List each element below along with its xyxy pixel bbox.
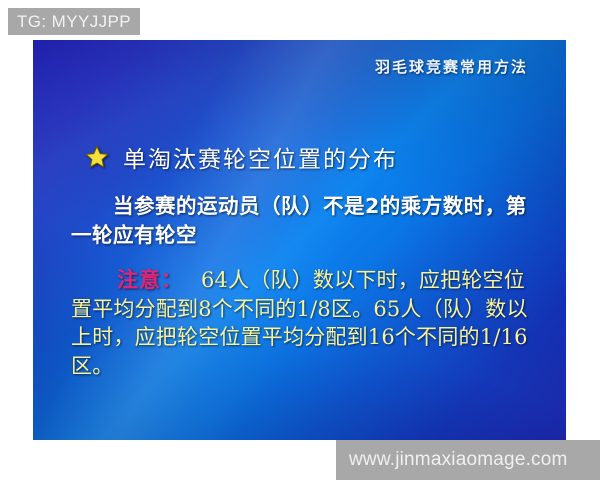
page-title: 单淘汰赛轮空位置的分布 [123, 140, 398, 174]
tg-label-badge: TG: MYYJJPP [8, 8, 140, 35]
slide-title-row: 单淘汰赛轮空位置的分布 [85, 140, 398, 174]
watermark-bar: www.jinmaxiaomage.com [336, 440, 600, 480]
presentation-slide: 羽毛球竞赛常用方法 单淘汰赛轮空位置的分布 当参赛的运动员（队）不是2的乘方数时… [33, 40, 566, 440]
slide-bold-paragraph: 当参赛的运动员（队）不是2的乘方数时，第一轮应有轮空 [71, 192, 539, 250]
slide-note-paragraph: 注意：64人（队）数以下时，应把轮空位置平均分配到8个不同的1/8区。65人（队… [71, 266, 541, 380]
note-label: 注意： [117, 267, 183, 292]
star-icon [85, 145, 109, 169]
screenshot-canvas: 羽毛球竞赛常用方法 单淘汰赛轮空位置的分布 当参赛的运动员（队）不是2的乘方数时… [0, 0, 600, 480]
watermark-url: www.jinmaxiaomage.com [336, 449, 568, 471]
slide-header-title: 羽毛球竞赛常用方法 [375, 56, 528, 77]
